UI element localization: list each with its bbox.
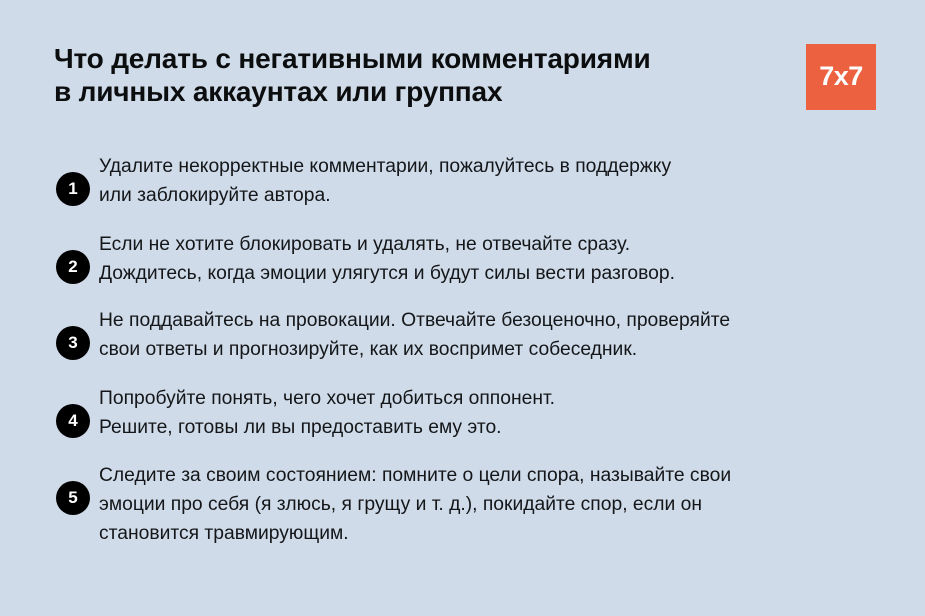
poster-header: Что делать с негативными комментариями в… (0, 0, 925, 140)
list-item-text: Попробуйте понять, чего хочет добиться о… (99, 384, 885, 442)
page-title-line-2: в личных аккаунтах или группах (54, 75, 799, 108)
brand-logo: 7x7 (806, 44, 876, 110)
list-item-number: 4 (68, 412, 77, 429)
list-item-number-badge: 5 (56, 481, 90, 515)
list-item-number: 5 (68, 489, 77, 506)
list-item-number-badge: 2 (56, 250, 90, 284)
list-item: 1 Удалите некорректные комментарии, пожа… (0, 152, 925, 210)
list-item-text: Удалите некорректные комментарии, пожалу… (99, 152, 885, 210)
page-title: Что делать с негативными комментариями в… (54, 42, 799, 108)
list-item-number-badge: 1 (56, 172, 90, 206)
list-item-number-badge: 3 (56, 326, 90, 360)
list-item: 3 Не поддавайтесь на провокации. Отвечай… (0, 306, 925, 364)
page-title-line-1: Что делать с негативными комментариями (54, 42, 799, 75)
list-item-text: Следите за своим состоянием: помните о ц… (99, 461, 885, 548)
list-item-number: 2 (68, 258, 77, 275)
brand-logo-text: 7x7 (819, 63, 863, 90)
list-item: 2 Если не хотите блокировать и удалять, … (0, 230, 925, 288)
infographic-poster: Что делать с негативными комментариями в… (0, 0, 925, 616)
list-item-number: 3 (68, 334, 77, 351)
tips-list: 1 Удалите некорректные комментарии, пожа… (0, 152, 925, 548)
list-item-text: Не поддавайтесь на провокации. Отвечайте… (99, 306, 885, 364)
list-item: 4 Попробуйте понять, чего хочет добиться… (0, 384, 925, 442)
list-item: 5 Следите за своим состоянием: помните о… (0, 461, 925, 548)
list-item-number-badge: 4 (56, 404, 90, 438)
list-item-text: Если не хотите блокировать и удалять, не… (99, 230, 885, 288)
list-item-number: 1 (68, 180, 77, 197)
